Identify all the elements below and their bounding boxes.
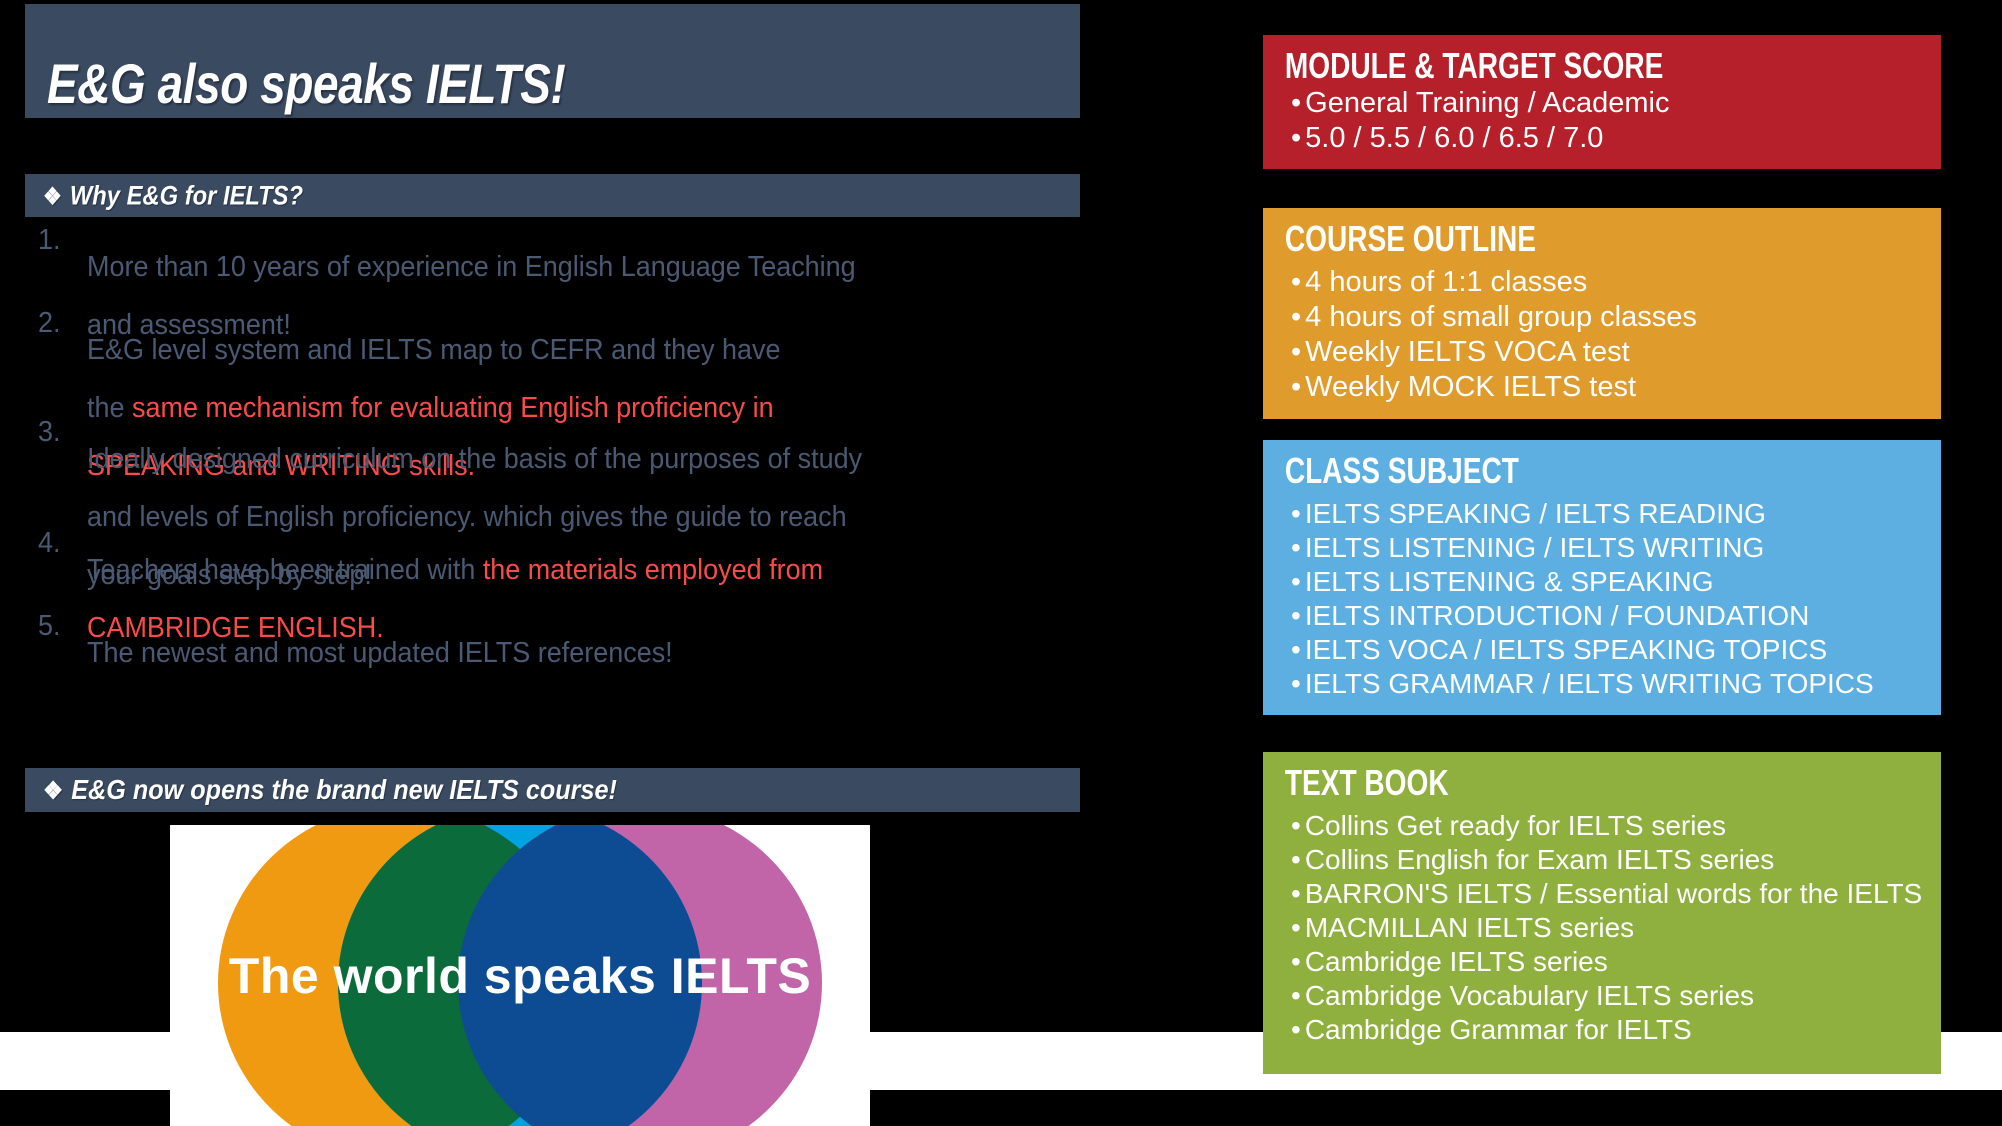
card-list-item: •MACMILLAN IELTS series: [1291, 911, 1941, 945]
card-class-subject: CLASS SUBJECT •IELTS SPEAKING / IELTS RE…: [1263, 440, 1941, 715]
bullet-icon: •: [1291, 878, 1301, 909]
card-title: CLASS SUBJECT: [1263, 450, 1792, 497]
card-item-list: •Collins Get ready for IELTS series •Col…: [1263, 809, 1941, 1047]
bullet-icon: •: [1291, 844, 1301, 875]
card-list-item-label: IELTS SPEAKING / IELTS READING: [1305, 498, 1766, 529]
course-announcement-text: ❖E&G now opens the brand new IELTS cours…: [43, 774, 617, 806]
card-module-target-score: MODULE & TARGET SCORE •General Training …: [1263, 35, 1941, 169]
card-list-item: •General Training / Academic: [1291, 86, 1941, 120]
card-list-item-label: BARRON'S IELTS / Essential words for the…: [1305, 878, 1922, 909]
card-list-item-label: IELTS LISTENING / IELTS WRITING: [1305, 532, 1764, 563]
card-list-item-label: Collins English for Exam IELTS series: [1305, 844, 1774, 875]
card-list-item-label: IELTS LISTENING & SPEAKING: [1305, 566, 1714, 597]
card-course-outline: COURSE OUTLINE •4 hours of 1:1 classes •…: [1263, 208, 1941, 419]
list-line: The newest and most updated IELTS refere…: [87, 639, 673, 668]
diamond-bullet-icon: ❖: [43, 776, 63, 806]
card-list-item-label: IELTS GRAMMAR / IELTS WRITING TOPICS: [1305, 668, 1874, 699]
list-item-body: The newest and most updated IELTS refere…: [87, 610, 673, 697]
card-list-item-label: 4 hours of 1:1 classes: [1305, 266, 1587, 298]
card-list-item: •IELTS VOCA / IELTS SPEAKING TOPICS: [1291, 633, 1941, 667]
card-list-item-label: Weekly IELTS VOCA test: [1305, 336, 1629, 368]
card-list-item: •IELTS LISTENING / IELTS WRITING: [1291, 531, 1941, 565]
card-list-item: •IELTS SPEAKING / IELTS READING: [1291, 497, 1941, 531]
bullet-icon: •: [1291, 532, 1301, 563]
bullet-icon: •: [1291, 266, 1301, 298]
card-text-book: TEXT BOOK •Collins Get ready for IELTS s…: [1263, 752, 1941, 1074]
bullet-icon: •: [1291, 1014, 1301, 1045]
card-list-item: •Weekly MOCK IELTS test: [1291, 370, 1941, 405]
card-list-item-label: Weekly MOCK IELTS test: [1305, 371, 1636, 403]
bullet-icon: •: [1291, 810, 1301, 841]
card-list-item: •BARRON'S IELTS / Essential words for th…: [1291, 877, 1941, 911]
course-announcement-label: E&G now opens the brand new IELTS course…: [71, 774, 617, 805]
card-list-item: •IELTS GRAMMAR / IELTS WRITING TOPICS: [1291, 667, 1941, 701]
bullet-icon: •: [1291, 371, 1301, 403]
why-heading-text: ❖Why E&G for IELTS?: [43, 180, 303, 211]
bullet-icon: •: [1291, 600, 1301, 631]
slide-title-panel: E&G also speaks IELTS!: [25, 4, 1080, 118]
card-list-item: •IELTS INTRODUCTION / FOUNDATION: [1291, 599, 1941, 633]
bullet-icon: •: [1291, 301, 1301, 333]
card-list-item-label: IELTS VOCA / IELTS SPEAKING TOPICS: [1305, 634, 1827, 665]
bullet-icon: •: [1291, 980, 1301, 1011]
card-list-item-label: General Training / Academic: [1305, 87, 1669, 119]
card-list-item: •Cambridge Grammar for IELTS: [1291, 1013, 1941, 1047]
bullet-icon: •: [1291, 498, 1301, 529]
card-list-item-label: MACMILLAN IELTS series: [1305, 912, 1634, 943]
bullet-icon: •: [1291, 634, 1301, 665]
card-list-item: •IELTS LISTENING & SPEAKING: [1291, 565, 1941, 599]
card-list-item-label: Cambridge Grammar for IELTS: [1305, 1014, 1692, 1045]
card-list-item-label: 4 hours of small group classes: [1305, 301, 1697, 333]
card-item-list: •General Training / Academic •5.0 / 5.5 …: [1263, 86, 1941, 155]
card-title: MODULE & TARGET SCORE: [1263, 45, 1792, 86]
card-list-item-label: IELTS INTRODUCTION / FOUNDATION: [1305, 600, 1810, 631]
bullet-icon: •: [1291, 87, 1301, 119]
list-line: Ideally designed curriculum on the basis…: [87, 445, 862, 474]
bullet-icon: •: [1291, 668, 1301, 699]
bullet-icon: •: [1291, 946, 1301, 977]
list-line: E&G level system and IELTS map to CEFR a…: [87, 336, 781, 365]
card-title: COURSE OUTLINE: [1263, 218, 1792, 265]
card-list-item-label: 5.0 / 5.5 / 6.0 / 6.5 / 7.0: [1305, 122, 1603, 154]
card-list-item: •Cambridge Vocabulary IELTS series: [1291, 979, 1941, 1013]
bullet-icon: •: [1291, 336, 1301, 368]
card-list-item: •4 hours of 1:1 classes: [1291, 265, 1941, 300]
bullet-icon: •: [1291, 122, 1301, 154]
card-list-item: •4 hours of small group classes: [1291, 300, 1941, 335]
why-heading-label: Why E&G for IELTS?: [70, 180, 303, 210]
card-item-list: •4 hours of 1:1 classes •4 hours of smal…: [1263, 265, 1941, 405]
venn-diagram-svg: [170, 825, 870, 1126]
page-title: E&G also speaks IELTS!: [47, 55, 565, 114]
list-line-highlight: the materials employed from: [483, 554, 823, 586]
card-list-item-label: Cambridge IELTS series: [1305, 946, 1608, 977]
card-list-item: •Collins English for Exam IELTS series: [1291, 843, 1941, 877]
ielts-venn-logo: The world speaks IELTS: [170, 825, 870, 1126]
card-list-item-label: Collins Get ready for IELTS series: [1305, 810, 1726, 841]
card-list-item: •Weekly IELTS VOCA test: [1291, 335, 1941, 370]
bullet-icon: •: [1291, 912, 1301, 943]
list-line-plain: Teachers have been trained with: [87, 554, 483, 586]
card-list-item: •5.0 / 5.5 / 6.0 / 6.5 / 7.0: [1291, 121, 1941, 155]
list-line: More than 10 years of experience in Engl…: [87, 253, 856, 282]
bullet-icon: •: [1291, 566, 1301, 597]
course-announcement-bar: ❖E&G now opens the brand new IELTS cours…: [25, 768, 1080, 812]
why-heading-bar: ❖Why E&G for IELTS?: [25, 174, 1080, 217]
list-line: Teachers have been trained with the mate…: [87, 556, 823, 585]
card-list-item: •Cambridge IELTS series: [1291, 945, 1941, 979]
card-item-list: •IELTS SPEAKING / IELTS READING •IELTS L…: [1263, 497, 1941, 701]
list-item-number: 5.: [25, 610, 83, 697]
list-item: 5. The newest and most updated IELTS ref…: [25, 610, 1095, 697]
card-list-item-label: Cambridge Vocabulary IELTS series: [1305, 980, 1754, 1011]
diamond-bullet-icon: ❖: [43, 182, 62, 211]
card-title: TEXT BOOK: [1263, 762, 1792, 809]
card-list-item: •Collins Get ready for IELTS series: [1291, 809, 1941, 843]
